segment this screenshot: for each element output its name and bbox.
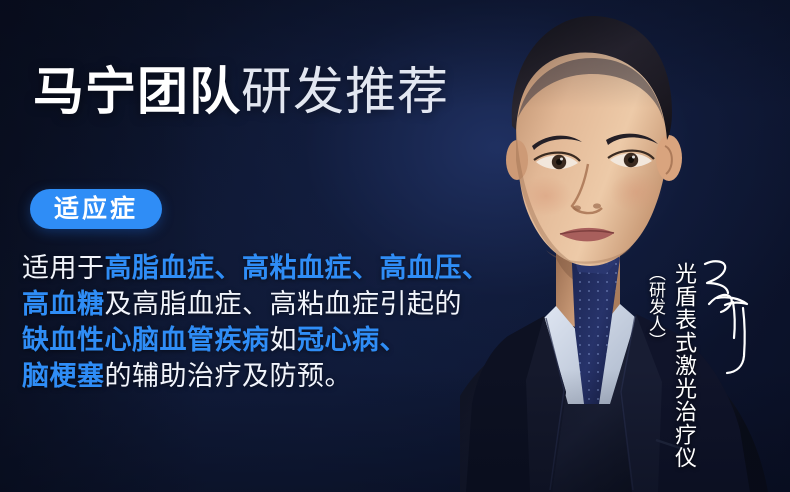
role-label-vertical: （研发人）	[643, 264, 668, 349]
page-title: 马宁团队研发推荐	[33, 66, 449, 117]
description-highlight: 高血糖	[22, 289, 105, 319]
title-light: 研发推荐	[241, 63, 449, 120]
indication-badge-label: 适应症	[54, 197, 138, 222]
content-column: 马宁团队研发推荐 适应症 适用于高脂血症、高粘血症、高血压、 高血糖及高脂血症、…	[0, 0, 560, 492]
description-text: 适用于	[22, 253, 105, 283]
description-highlight: 脑梗塞	[22, 361, 105, 391]
indication-badge: 适应症	[30, 189, 162, 229]
promo-banner: 马宁团队研发推荐 适应症 适用于高脂血症、高粘血症、高血压、 高血糖及高脂血症、…	[0, 0, 790, 492]
title-strong: 马宁团队	[33, 63, 241, 120]
product-name-vertical: 光盾表式激光治疗仪	[668, 262, 700, 469]
description-text: 及高脂血症、高粘血症引起的	[105, 289, 463, 319]
description-highlight: 冠心病、	[297, 325, 407, 355]
description-text: 如	[270, 325, 298, 355]
description-line: 高血糖及高脂血症、高粘血症引起的	[22, 286, 542, 322]
description-highlight: 缺血性心脑血管疾病	[22, 325, 270, 355]
description-line: 脑梗塞的辅助治疗及防预。	[22, 358, 542, 394]
description-text: 的辅助治疗及防预。	[105, 361, 353, 391]
description-highlight: 高脂血症、高粘血症、高血压、	[105, 253, 490, 283]
indication-description: 适用于高脂血症、高粘血症、高血压、 高血糖及高脂血症、高粘血症引起的 缺血性心脑…	[22, 250, 542, 394]
description-line: 适用于高脂血症、高粘血症、高血压、	[22, 250, 542, 286]
description-line: 缺血性心脑血管疾病如冠心病、	[22, 322, 542, 358]
